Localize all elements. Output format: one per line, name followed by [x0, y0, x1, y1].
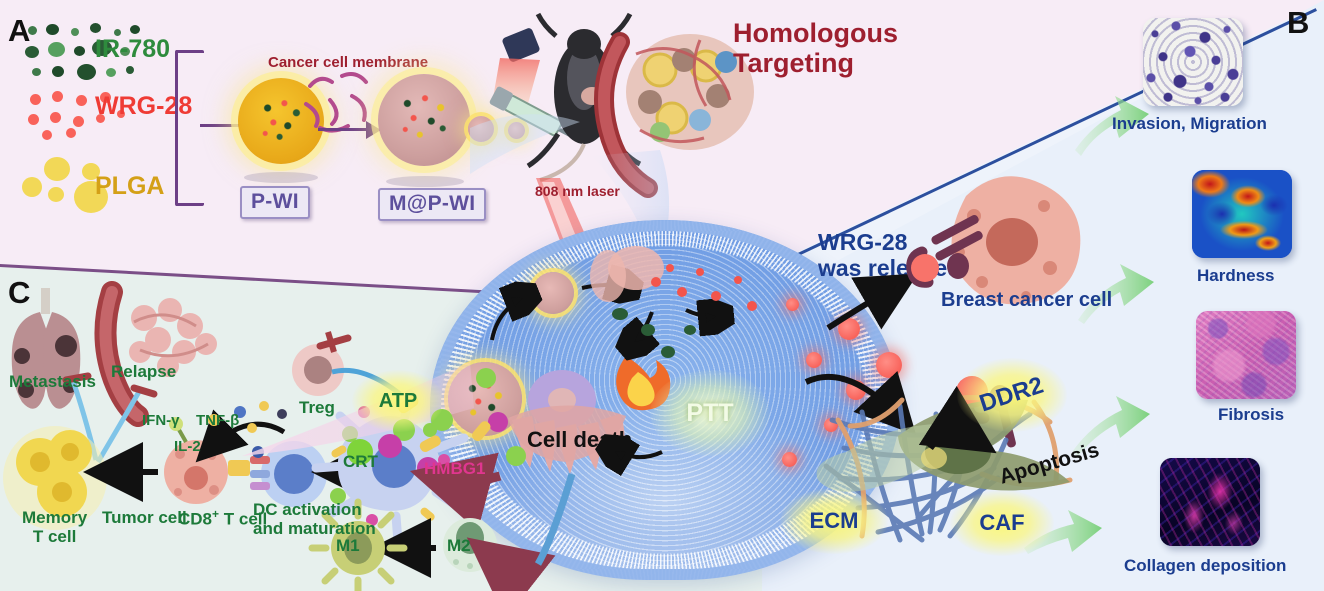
bracket-arrow-shaft: [200, 124, 242, 127]
ecm-glow-bg: ECM: [780, 488, 888, 554]
thumbnail-caption-collagen: Collagen deposition: [1124, 556, 1286, 576]
component-label-ir780: IR-780: [95, 35, 170, 63]
label-m2: M2: [447, 536, 471, 555]
cell-death-label: Cell death: [527, 428, 632, 453]
panel-letter-c: C: [8, 276, 30, 311]
caf-label: CAF: [979, 511, 1024, 536]
p-wi-cargo-speckles: [258, 96, 306, 144]
thumbnail-caption-invasion: Invasion, Migration: [1112, 114, 1267, 134]
label-atp: ATP: [379, 390, 418, 412]
panel-letter-b: B: [1287, 6, 1309, 41]
released-wrg28-2: [876, 352, 902, 378]
component-label-plga: PLGA: [95, 172, 164, 200]
label-relapse: Relapse: [111, 362, 176, 381]
component-bracket: [175, 50, 204, 206]
wrg28-released-label: WRG-28 was released: [818, 230, 961, 282]
label-cytokine-tnf-beta: TNF-β: [196, 413, 239, 430]
label-treg: Treg: [299, 398, 335, 417]
atp-glow-bg: ATP: [352, 370, 444, 432]
label-m1: M1: [336, 536, 360, 555]
membrane-coating-arrow-shaft: [318, 128, 368, 131]
m-at-p-wi-shadow: [386, 176, 464, 187]
p-wi-shadow: [244, 172, 318, 183]
thumbnail-invasion-texture: [1143, 18, 1243, 106]
label-dc-activation: DC activation and maturation: [253, 500, 376, 538]
ptt-glow-label-bg: PTT: [650, 370, 770, 456]
chip-m-at-p-wi[interactable]: M@P-WI: [378, 188, 486, 221]
thumbnail-fibrosis-texture: [1196, 311, 1296, 399]
released-wrg28-7: [782, 452, 797, 467]
ddr2-label: DDR2: [977, 372, 1047, 418]
ptt-label: PTT: [686, 399, 733, 427]
thumbnail-hardness[interactable]: [1192, 170, 1292, 258]
traveling-nanoparticle-1: [468, 116, 494, 142]
released-wrg28-4: [806, 352, 822, 368]
label-cd8-superscript: +: [212, 507, 219, 521]
label-tumor-cell: Tumor cell: [102, 508, 187, 527]
thumbnail-caption-fibrosis: Fibrosis: [1218, 405, 1284, 425]
breast-cancer-cell-label: Breast cancer cell: [941, 289, 1112, 311]
label-cytokine-il-2: IL-2: [174, 439, 201, 456]
label-cytokine-ifn-gamma: IFN-γ: [142, 413, 180, 430]
traveling-nanoparticle-2: [508, 122, 525, 139]
released-wrg28-3: [846, 380, 866, 400]
label-metastasis: Metastasis: [9, 372, 96, 391]
thumbnail-collagen-deposition[interactable]: [1160, 458, 1260, 546]
released-wrg28-6: [786, 298, 799, 311]
internalized-nanoparticle-large-cargo: [464, 378, 506, 420]
label-cd8-base: CD8: [178, 510, 212, 529]
label-crt: CRT: [343, 452, 378, 471]
thumbnail-hardness-texture: [1192, 170, 1292, 258]
m-at-p-wi-cargo-speckles: [398, 92, 450, 144]
cancer-cell-membrane-label: Cancer cell membrane: [268, 55, 428, 72]
label-memory-t-cell: Memory T cell: [22, 508, 87, 546]
ecm-label: ECM: [810, 509, 859, 534]
ddr2-glow-bg: DDR2: [957, 358, 1067, 432]
internalized-nanoparticle-small: [532, 272, 574, 314]
released-wrg28-5: [824, 418, 838, 432]
laser-label: 808 nm laser: [535, 184, 620, 200]
thumbnail-invasion-migration[interactable]: [1143, 18, 1243, 106]
homologous-targeting-label: Homologous Targeting: [733, 18, 898, 78]
thumbnail-caption-hardness: Hardness: [1197, 266, 1274, 286]
thumbnail-fibrosis[interactable]: [1196, 311, 1296, 399]
figure-root: A B C IR-780 WRG-28: [0, 0, 1324, 591]
label-hmbg1: HMBG1: [424, 459, 485, 478]
released-wrg28-1: [838, 318, 860, 340]
caf-glow-bg: CAF: [950, 490, 1054, 556]
chip-p-wi[interactable]: P-WI: [240, 186, 310, 219]
thumbnail-collagen-texture: [1160, 458, 1260, 546]
